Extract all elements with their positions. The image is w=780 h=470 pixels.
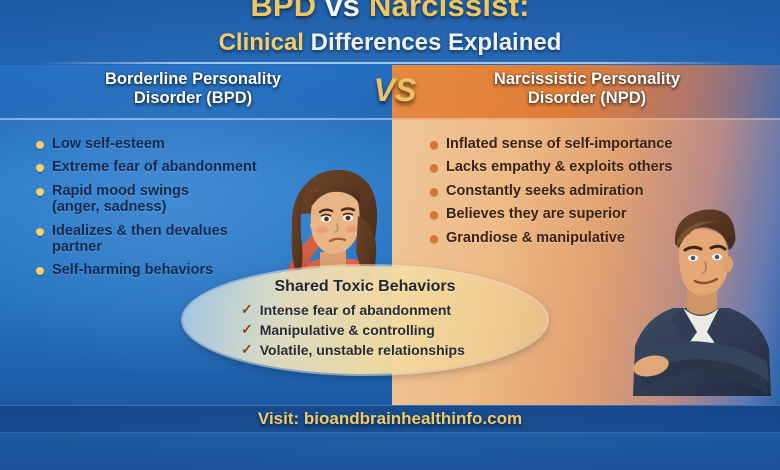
subtitle-clinical: Clinical	[219, 29, 304, 56]
bullet-dot-icon	[36, 228, 44, 236]
bullet-dot-icon	[430, 141, 438, 149]
bpd-symptom-list: Low self-esteem Extreme fear of abandonm…	[36, 136, 306, 286]
subtitle-rest: Differences Explained	[311, 29, 562, 56]
list-item-label: Extreme fear of abandonment	[52, 159, 257, 175]
check-icon: ✓	[241, 302, 253, 317]
list-item: Idealizes & then devalues partner	[36, 223, 306, 256]
list-item: Constantly seeks admiration	[430, 183, 735, 199]
list-item-label: Intense fear of abandonment	[260, 302, 451, 318]
bpd-title-line1: Borderline Personality	[105, 70, 281, 88]
list-item-label: Volatile, unstable relationships	[260, 342, 465, 358]
npd-panel-title: Narcissistic Personality Disorder (NPD)	[422, 70, 752, 108]
list-item: Low self-esteem	[36, 136, 306, 152]
list-item-label: Inflated sense of self-importance	[446, 136, 672, 152]
bullet-dot-icon	[430, 211, 438, 219]
list-item-label: Lacks empathy & exploits others	[446, 159, 672, 175]
list-item-sublabel: partner	[52, 239, 306, 255]
title-divider	[40, 62, 740, 64]
list-item: Believes they are superior	[430, 206, 735, 222]
bpd-panel-title: Borderline Personality Disorder (BPD)	[28, 70, 358, 108]
list-item: ✓ Volatile, unstable relationships	[241, 342, 529, 358]
check-icon: ✓	[241, 322, 253, 337]
page-subtitle: Clinical Differences Explained	[0, 29, 780, 57]
npd-title-line1: Narcissistic Personality	[494, 70, 680, 88]
title-narcissist: Narcissist:	[369, 0, 530, 23]
vs-badge: VS	[364, 72, 426, 109]
bullet-dot-icon	[36, 188, 44, 196]
list-item: Inflated sense of self-importance	[430, 136, 735, 152]
npd-title-line2: Disorder (NPD)	[528, 89, 646, 107]
list-item: Extreme fear of abandonment	[36, 159, 306, 175]
bpd-title-line2: Disorder (BPD)	[134, 89, 252, 107]
list-item: Rapid mood swings (anger, sadness)	[36, 183, 306, 216]
list-item: ✓ Manipulative & controlling	[241, 322, 529, 338]
list-item-label: Grandiose & manipulative	[446, 230, 625, 246]
bullet-dot-icon	[36, 141, 44, 149]
list-item-label: Idealizes & then devalues	[52, 223, 228, 239]
title-block: BPD vs Narcissist: Clinical Differences …	[0, 0, 780, 57]
list-item-label: Low self-esteem	[52, 136, 165, 152]
list-item-sublabel: (anger, sadness)	[52, 199, 306, 215]
page-title: BPD vs Narcissist:	[0, 0, 780, 24]
bullet-dot-icon	[430, 164, 438, 172]
list-item-label: Self-harming behaviors	[52, 262, 213, 278]
list-item-label: Manipulative & controlling	[260, 322, 435, 338]
list-item: Grandiose & manipulative	[430, 230, 735, 246]
shared-behaviors-title: Shared Toxic Behaviors	[183, 278, 547, 296]
bullet-dot-icon	[36, 267, 44, 275]
title-vs: vs	[325, 0, 360, 23]
shared-behaviors-panel: Shared Toxic Behaviors ✓ Intense fear of…	[183, 266, 547, 374]
check-icon: ✓	[241, 342, 253, 357]
list-item-label: Constantly seeks admiration	[446, 183, 643, 199]
bullet-dot-icon	[430, 188, 438, 196]
list-item: Lacks empathy & exploits others	[430, 159, 735, 175]
infographic-canvas: Borderline Personality Disorder (BPD) Na…	[0, 0, 780, 470]
website-url[interactable]: Visit: bioandbrainhealthinfo.com	[258, 409, 522, 429]
shared-behaviors-list: ✓ Intense fear of abandonment ✓ Manipula…	[241, 302, 529, 362]
list-item-label: Rapid mood swings	[52, 183, 189, 199]
bullet-dot-icon	[430, 235, 438, 243]
bullet-dot-icon	[36, 164, 44, 172]
title-bpd: BPD	[250, 0, 316, 23]
npd-symptom-list: Inflated sense of self-importance Lacks …	[430, 136, 735, 253]
list-item: ✓ Intense fear of abandonment	[241, 302, 529, 318]
footer-band: Visit: bioandbrainhealthinfo.com	[0, 405, 780, 433]
list-item-label: Believes they are superior	[446, 206, 627, 222]
